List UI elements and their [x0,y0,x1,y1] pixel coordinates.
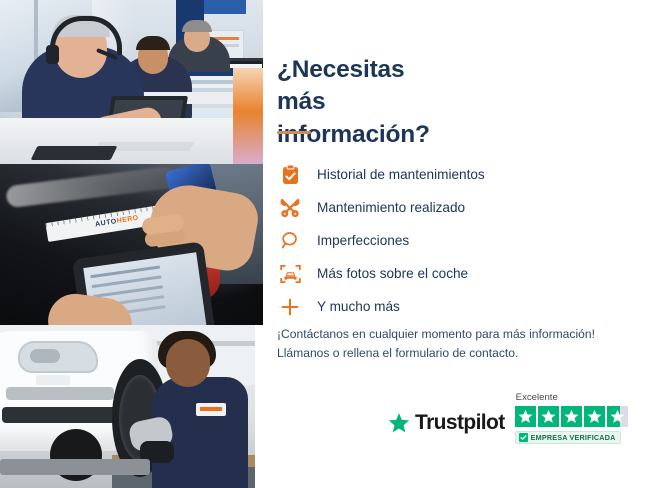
trustpilot-rating-label: Excelente [516,392,558,403]
feature-label: Mantenimiento realizado [303,200,465,215]
feature-item-much-more: Y mucho más [277,290,577,323]
feature-item-maintenance-history: Historial de mantenimientos [277,158,577,191]
feature-item-more-photos: Más fotos sobre el coche [277,257,577,290]
trustpilot-star-3 [561,406,582,427]
contact-paragraph-line1: ¡Contáctanos en cualquier momento para m… [277,325,627,344]
trustpilot-rating-block: Excelente EMPRESA VERIFICADA [515,392,628,444]
verified-company-badge: EMPRESA VERIFICADA [515,431,622,444]
promo-card: AUTOHERO ¿Necesitas más información? [0,0,650,488]
vehicle-inspection-tablet-photo: AUTOHERO [0,164,263,325]
trustpilot-wordmark: Trustpilot [415,411,505,435]
ruler-brand-text: AUTOHERO [95,215,140,229]
mechanic-wheel-inspection-photo [0,325,263,488]
trustpilot-stars [515,406,628,427]
call-center-agents-photo [0,0,263,164]
trustpilot-star-1 [515,406,536,427]
feature-list: Historial de mantenimientos Mantenimient… [277,158,577,323]
check-icon [519,433,528,442]
tools-cross-icon [277,197,303,219]
feature-label: Imperfecciones [303,233,409,248]
page-title-line1: ¿Necesitas [277,56,404,83]
trustpilot-logo[interactable]: Trustpilot [388,411,505,444]
photo-column: AUTOHERO [0,0,263,488]
feature-item-maintenance-done: Mantenimiento realizado [277,191,577,224]
magnifier-icon [277,230,303,252]
plus-icon [277,296,303,318]
page-title-line2: más información? [277,88,430,147]
verified-company-label: EMPRESA VERIFICADA [531,433,616,442]
trustpilot-star-4 [584,406,605,427]
feature-label: Y mucho más [303,299,400,314]
page-title: ¿Necesitas más información? [277,54,430,151]
feature-item-imperfections: Imperfecciones [277,224,577,257]
car-scan-icon [277,263,303,285]
title-divider [277,131,311,134]
contact-paragraph: ¡Contáctanos en cualquier momento para m… [277,325,627,362]
trustpilot-star-5 [607,406,628,427]
content-panel: ¿Necesitas más información? Estamos enca… [263,0,650,488]
trustpilot-widget[interactable]: Trustpilot Excelente EMPRESA VERIFICADA [388,392,628,444]
trustpilot-star-2 [538,406,559,427]
clipboard-check-icon [277,164,303,186]
trustpilot-star-icon [388,412,410,434]
contact-paragraph-line2: Llámanos o rellena el formulario de cont… [277,344,627,363]
feature-label: Más fotos sobre el coche [303,266,468,281]
feature-label: Historial de mantenimientos [303,167,485,182]
